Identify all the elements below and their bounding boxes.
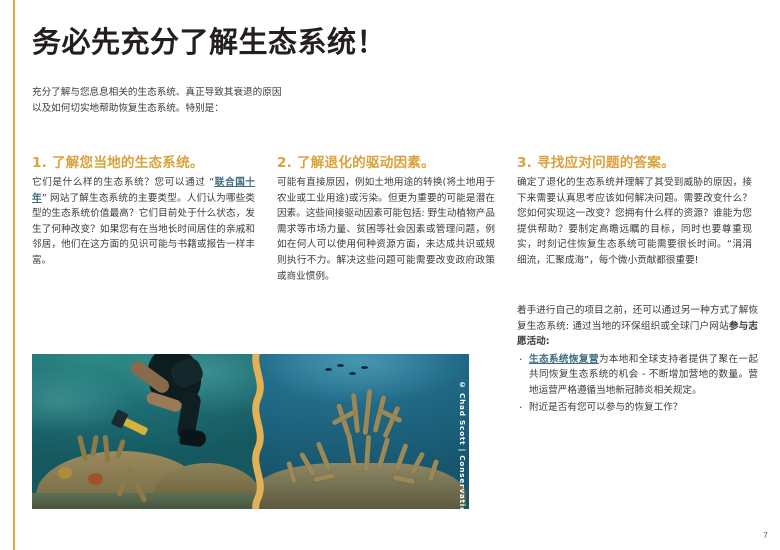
three-column-section: 1. 了解您当地的生态系统。 它们是什么样的生态系统？您可以通过 “联合国十年”… [32,155,758,284]
photo-right-staghorn-coral: © Chad Scott | Conservation Diver [257,354,469,509]
coral-branch [299,451,316,476]
photo-credit-text: © Chad Scott | Conservation Diver [458,380,467,509]
page-root: 务必先充分了解生态系统！ 充分了解与您息息相关的生态系统、真正导致其衰退的原因以… [0,0,780,550]
wave-divider-icon [247,354,269,509]
page-title: 务必先充分了解生态系统！ [32,0,758,59]
diver-fin [179,428,207,447]
column-1-text-after-link: ” 网站了解生态系统的主要类型。人们认为哪些类型的生态系统价值最高？它们目前处于… [32,193,255,266]
volunteer-lead: 着手进行自己的项目之前，还可以通过另一种方式了解恢复生态系统: 通过当地的环保组… [517,303,758,350]
staghorn-coral-colony [265,389,465,501]
fish [325,368,332,371]
intro-paragraph: 充分了解与您息息相关的生态系统、真正导致其衰退的原因以及如何切实地帮助恢复生态系… [32,59,282,116]
fish [337,364,344,367]
photo-strip: © Chad Scott | Conservation Diver [32,354,469,509]
left-accent-rule [13,0,15,550]
list-item: 附近是否有您可以参与的恢复工作？ [517,400,758,416]
coral-branch [58,467,72,479]
coral-branch [346,433,357,467]
coral-branch [410,451,426,475]
coral-branch [88,473,103,485]
column-1: 1. 了解您当地的生态系统。 它们是什么样的生态系统？您可以通过 “联合国十年”… [32,155,277,284]
column-1-heading: 1. 了解您当地的生态系统。 [32,155,255,171]
column-2-body: 可能有直接原因，例如土地用途的转换(将土地用于农业或工业用途)或污染。但更为重要… [277,175,495,284]
volunteer-lead-normal: 着手进行自己的项目之前，还可以通过另一种方式了解恢复生态系统: 通过当地的环保组… [517,305,758,332]
fish [361,366,368,369]
coral-branch [316,441,332,471]
coral-branch [428,459,440,481]
coral-branch [363,389,373,435]
page-number: 7 [763,531,768,540]
volunteer-section: 着手进行自己的项目之前，还可以通过另一种方式了解恢复生态系统: 通过当地的环保组… [517,303,758,418]
volunteer-item-1-text: 附近是否有您可以参与的恢复工作？ [529,402,683,413]
coral-branch [394,443,408,471]
photo-credit: © Chad Scott | Conservation Diver [458,380,467,509]
coral-branch [364,435,371,471]
coral-branch [313,473,336,482]
photo-left-diver-restoring-coral [32,354,257,509]
coral-branch [393,475,416,484]
column-2: 2. 了解退化的驱动因素。 可能有直接原因，例如土地用途的转换(将土地用于农业或… [277,155,517,284]
coral-branch [286,461,297,484]
column-3: 3. 寻找应对问题的答案。 确定了退化的生态系统并理解了其受到威胁的原因，接下来… [517,155,758,284]
coral-branch [377,437,391,469]
column-3-heading: 3. 寻找应对问题的答案。 [517,155,752,171]
column-3-body: 确定了退化的生态系统并理解了其受到威胁的原因，接下来需要认真思考应该如何解决问题… [517,175,752,268]
column-2-heading: 2. 了解退化的驱动因素。 [277,155,495,171]
fish [349,372,356,375]
column-1-body: 它们是什么样的生态系统？您可以通过 “联合国十年” 网站了解生态系统的主要类型。… [32,175,255,268]
list-item: 生态系统恢复营为本地和全球支持者提供了聚在一起共同恢复生态系统的机会 - 不断增… [517,352,758,399]
restoration-camps-link[interactable]: 生态系统恢复营 [529,354,599,365]
column-1-text-before-link: 它们是什么样的生态系统？您可以通过 “ [32,177,214,188]
volunteer-list: 生态系统恢复营为本地和全球支持者提供了聚在一起共同恢复生态系统的机会 - 不断增… [517,352,758,416]
diver-figure [128,354,224,452]
